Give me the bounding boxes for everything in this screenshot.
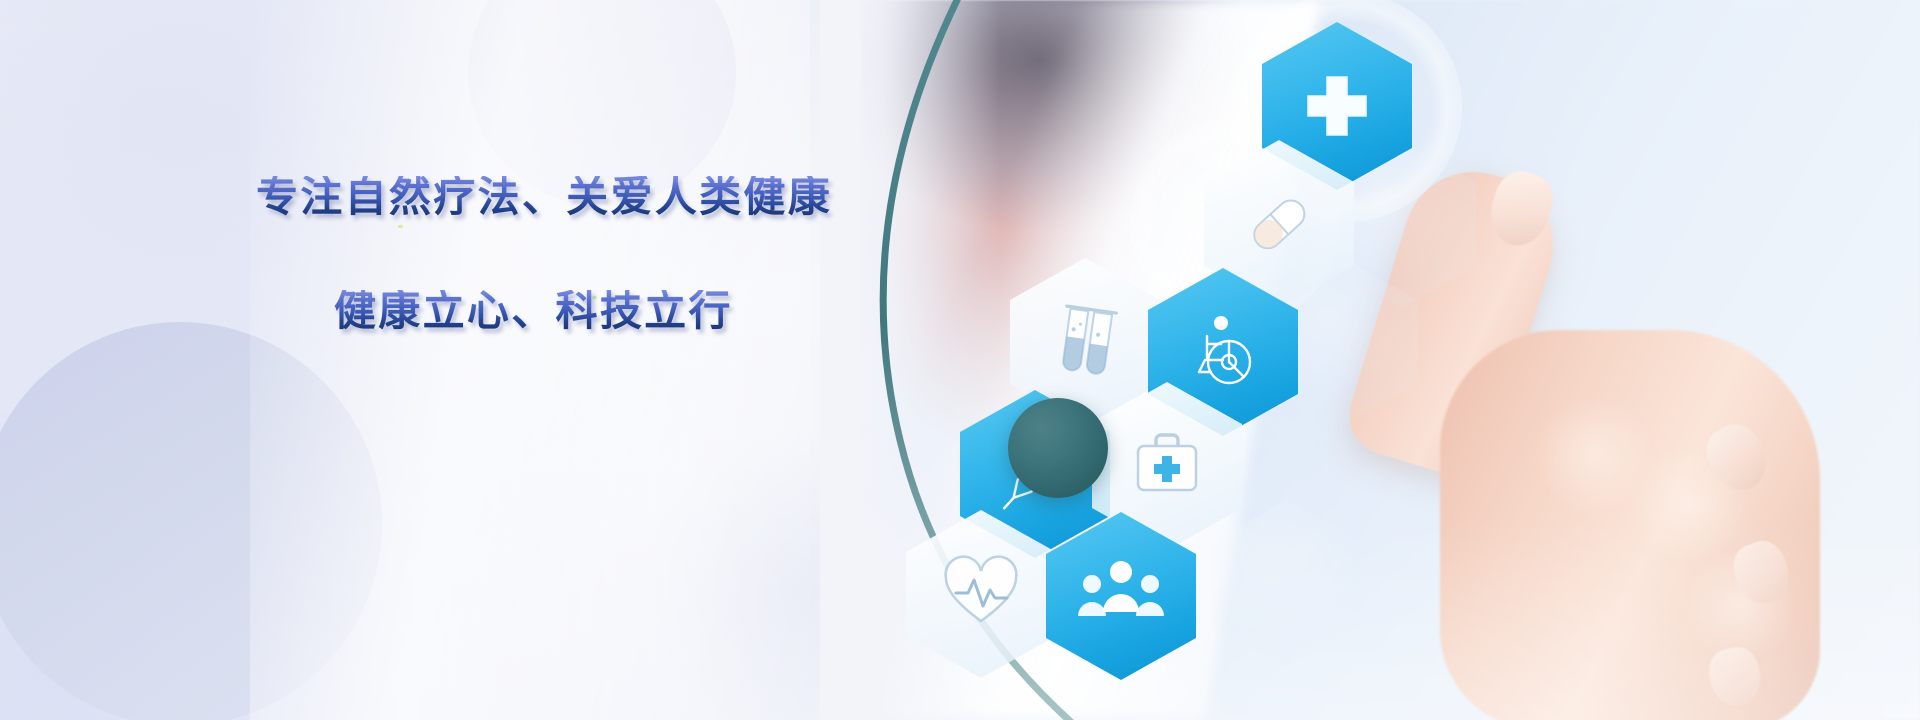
teal-node-dot [1008,398,1108,498]
headline-block: 专注自然疗法、关爱人类健康 健康立心、科技立行 [256,176,896,332]
hero-banner: 专注自然疗法、关爱人类健康 健康立心、科技立行 [0,0,1920,720]
headline-line-2: 健康立心、科技立行 [334,290,896,332]
hexagon-icon-grid [860,0,1920,720]
blank-hex-bottom [1212,500,1362,668]
headline-line-1: 专注自然疗法、关爱人类健康 [256,176,896,218]
